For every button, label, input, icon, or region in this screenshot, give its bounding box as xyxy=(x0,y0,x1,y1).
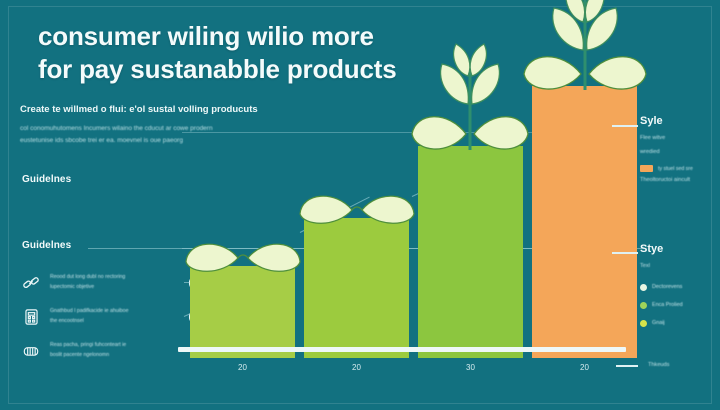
list-item-text: Gnathbud l padifkacide ie ahuiboe the en… xyxy=(50,307,182,326)
feature-2-line-1: Gnathbud l padifkacide ie ahuiboe xyxy=(50,308,128,314)
feature-2-line-2: the encootnsel xyxy=(50,318,84,324)
bar-series: 20 20 30 20 xyxy=(182,60,622,358)
legend-dot-2 xyxy=(640,302,647,309)
legend-item[interactable]: Dectorevens xyxy=(640,284,714,291)
section-label-guidelines-2: Guidelnes xyxy=(22,240,71,251)
footer-text: Thkeuds xyxy=(648,362,669,368)
legend-swatch-row[interactable]: ty stuel sed sre xyxy=(640,165,714,172)
title-line-1: consumer wiling wilio more xyxy=(38,21,374,51)
x-axis-label-2: 20 xyxy=(304,363,409,372)
legend-label-3: Gnaij xyxy=(652,320,665,326)
legend-top-panel: Syle Flee witve wredied ty stuel sed sre… xyxy=(640,115,714,187)
clipboard-grid-icon xyxy=(18,305,44,329)
legend-item[interactable]: Enca Prolied xyxy=(640,302,714,309)
chain-link-icon xyxy=(18,271,44,295)
legend-bottom-subtitle: Texl xyxy=(640,261,714,273)
legend-dot-3 xyxy=(640,320,647,327)
legend-swatch-label: ty stuel sed sre xyxy=(658,166,693,172)
bar-2[interactable] xyxy=(304,218,409,358)
legend-bottom-heading: Stye xyxy=(640,243,714,255)
list-item-text: Reas pacha, pringi fuhconteart ie boslit… xyxy=(50,341,182,360)
list-item[interactable]: Gnathbud l padifkacide ie ahuiboe the en… xyxy=(18,302,208,332)
legend-top-heading: Syle xyxy=(640,115,714,127)
striped-book-icon xyxy=(18,339,44,363)
bar-3[interactable] xyxy=(418,146,523,358)
legend-top-line-2: wredied xyxy=(640,147,714,159)
list-item-text: Reood dut long dubl no rectoring lupecto… xyxy=(50,273,182,292)
infographic-canvas: consumer wiling wilio more for pay susta… xyxy=(0,0,720,410)
legend-top-line-1: Flee witve xyxy=(640,133,714,145)
feature-3-line-1: Reas pacha, pringi fuhconteart ie xyxy=(50,342,126,348)
feature-1-line-2: lupectomic objetive xyxy=(50,284,94,290)
bar-1[interactable] xyxy=(190,266,295,358)
legend-label-1: Dectorevens xyxy=(652,284,682,290)
legend-bottom-rule xyxy=(612,252,638,254)
chart-baseline xyxy=(178,347,626,352)
feature-3-line-2: boslit pacente ngelonomn xyxy=(50,352,109,358)
legend-bottom-panel: Stye Texl Dectorevens Enca Prolied Gnaij xyxy=(640,243,714,327)
footer-rule xyxy=(616,365,638,367)
legend-item[interactable]: Gnaij xyxy=(640,320,714,327)
legend-swatch-orange xyxy=(640,165,653,172)
feature-list: Reood dut long dubl no rectoring lupecto… xyxy=(18,268,208,370)
bar-chart: 20 20 30 20 xyxy=(182,60,622,370)
legend-top-rule xyxy=(612,125,638,127)
x-axis-label-1: 20 xyxy=(190,363,295,372)
feature-1-line-1: Reood dut long dubl no rectoring xyxy=(50,274,125,280)
legend-top-note: Theoltoructoi aincult xyxy=(640,175,714,187)
legend-dot-1 xyxy=(640,284,647,291)
x-axis-label-3: 30 xyxy=(418,363,523,372)
legend-label-2: Enca Prolied xyxy=(652,302,683,308)
section-label-guidelines-1: Guidelnes xyxy=(22,174,71,185)
